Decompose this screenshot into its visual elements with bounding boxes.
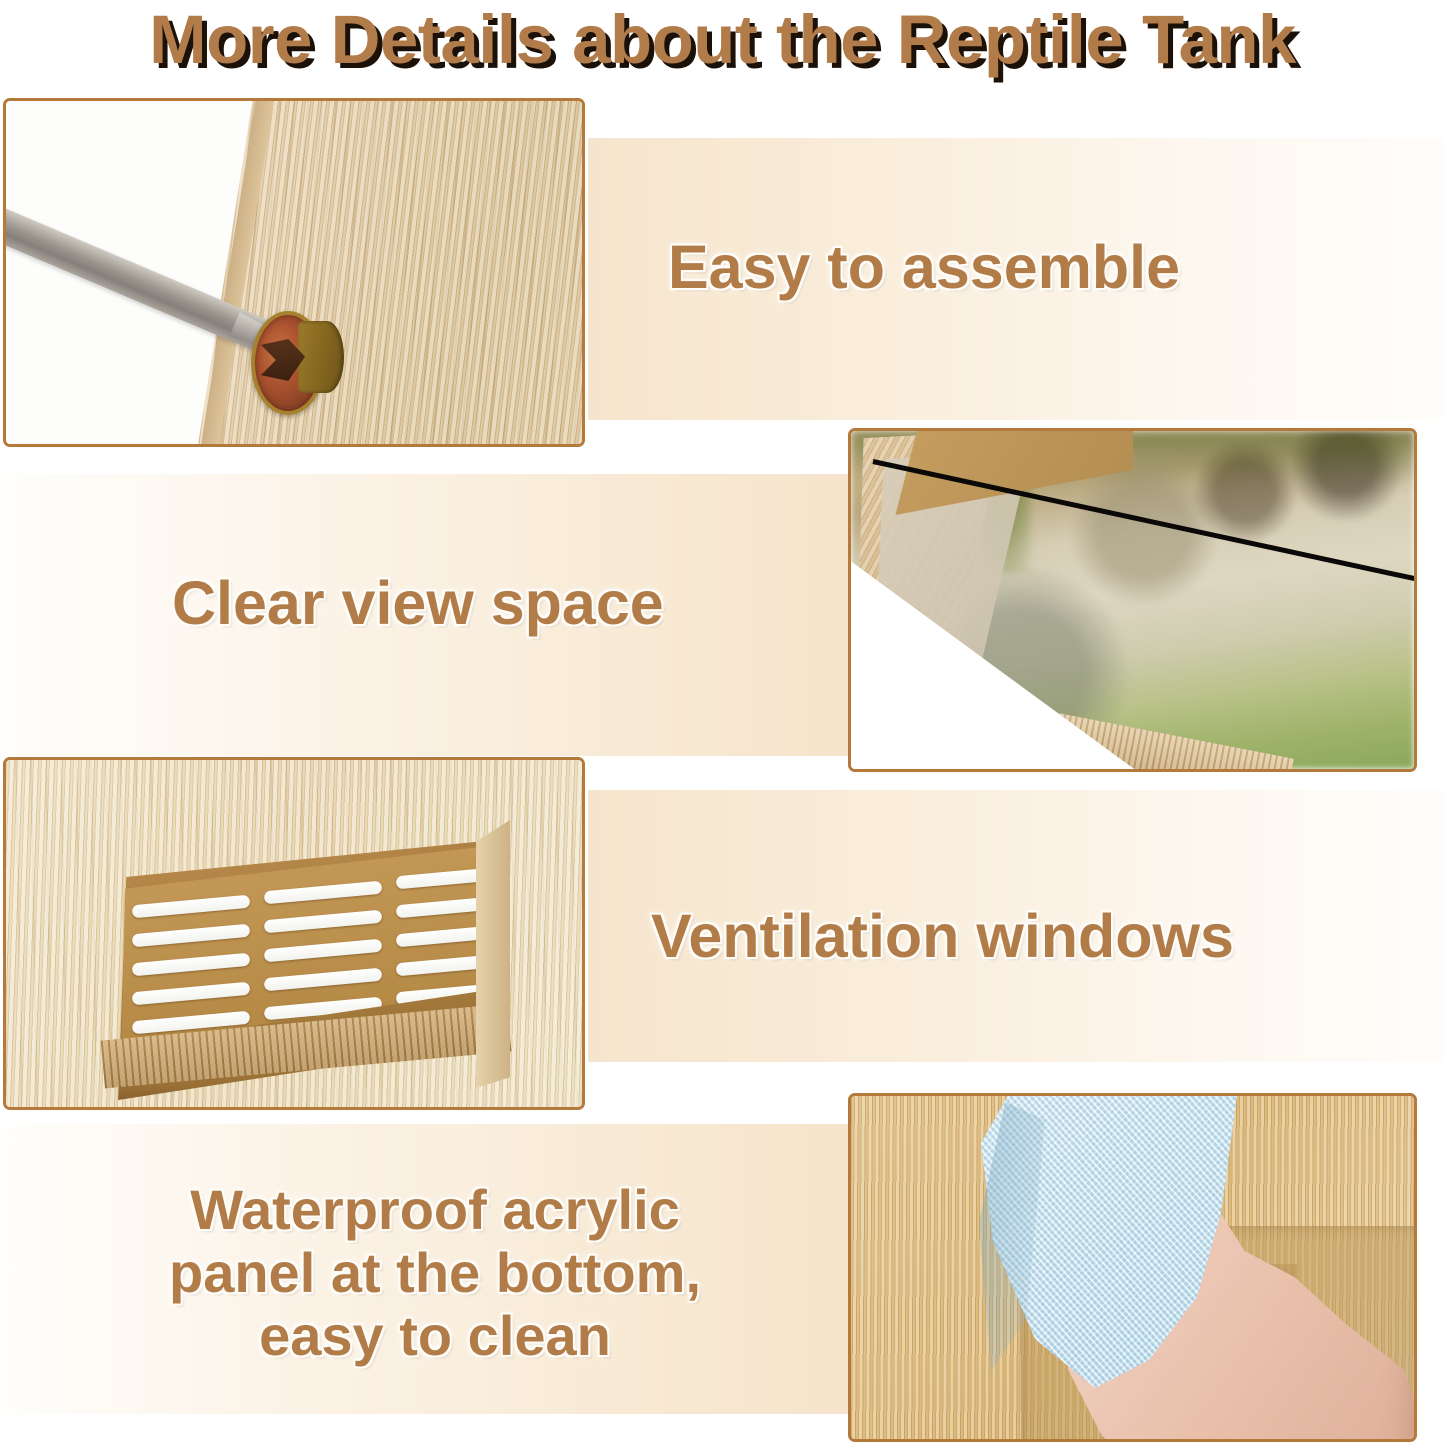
vent-slat <box>396 868 486 890</box>
feature-caption-waterproof-acrylic: Waterproof acrylic panel at the bottom, … <box>50 1178 820 1367</box>
caption-line-3: easy to clean <box>50 1304 820 1367</box>
photo-ventilation-scene <box>6 760 582 1107</box>
vent-slat <box>132 982 251 1006</box>
feature-caption-easy-to-assemble: Easy to assemble <box>668 229 1180 305</box>
screw-head <box>298 321 344 393</box>
photo-cleaning-scene <box>851 1096 1414 1439</box>
feature-photo-waterproof-acrylic <box>848 1093 1417 1442</box>
caption-line-2: panel at the bottom, <box>50 1241 820 1304</box>
feature-photo-easy-to-assemble <box>3 98 585 447</box>
page-title: More Details about the Reptile Tank <box>0 0 1445 86</box>
vent-slat <box>264 939 383 963</box>
photo-screw-scene <box>6 101 582 444</box>
feature-photo-clear-view-space <box>848 428 1417 772</box>
vent-slat <box>132 924 251 948</box>
vent-slat <box>132 953 251 977</box>
vent-right-jamb <box>476 820 510 1088</box>
photo-clear-view-scene <box>851 431 1414 769</box>
caption-line-1: Waterproof acrylic <box>50 1178 820 1241</box>
vent-slat <box>264 881 383 905</box>
feature-photo-ventilation-windows <box>3 757 585 1110</box>
feature-caption-ventilation-windows: Ventilation windows <box>651 898 1234 974</box>
vent-slat <box>264 910 383 934</box>
vent-slat <box>132 895 251 919</box>
vent-slat <box>396 926 486 948</box>
product-detail-infographic: More Details about the Reptile Tank Easy… <box>0 0 1445 1447</box>
vent-slat <box>264 968 383 992</box>
feature-caption-clear-view-space: Clear view space <box>172 565 664 641</box>
vent-slat <box>396 955 486 977</box>
vent-slat <box>396 897 486 919</box>
